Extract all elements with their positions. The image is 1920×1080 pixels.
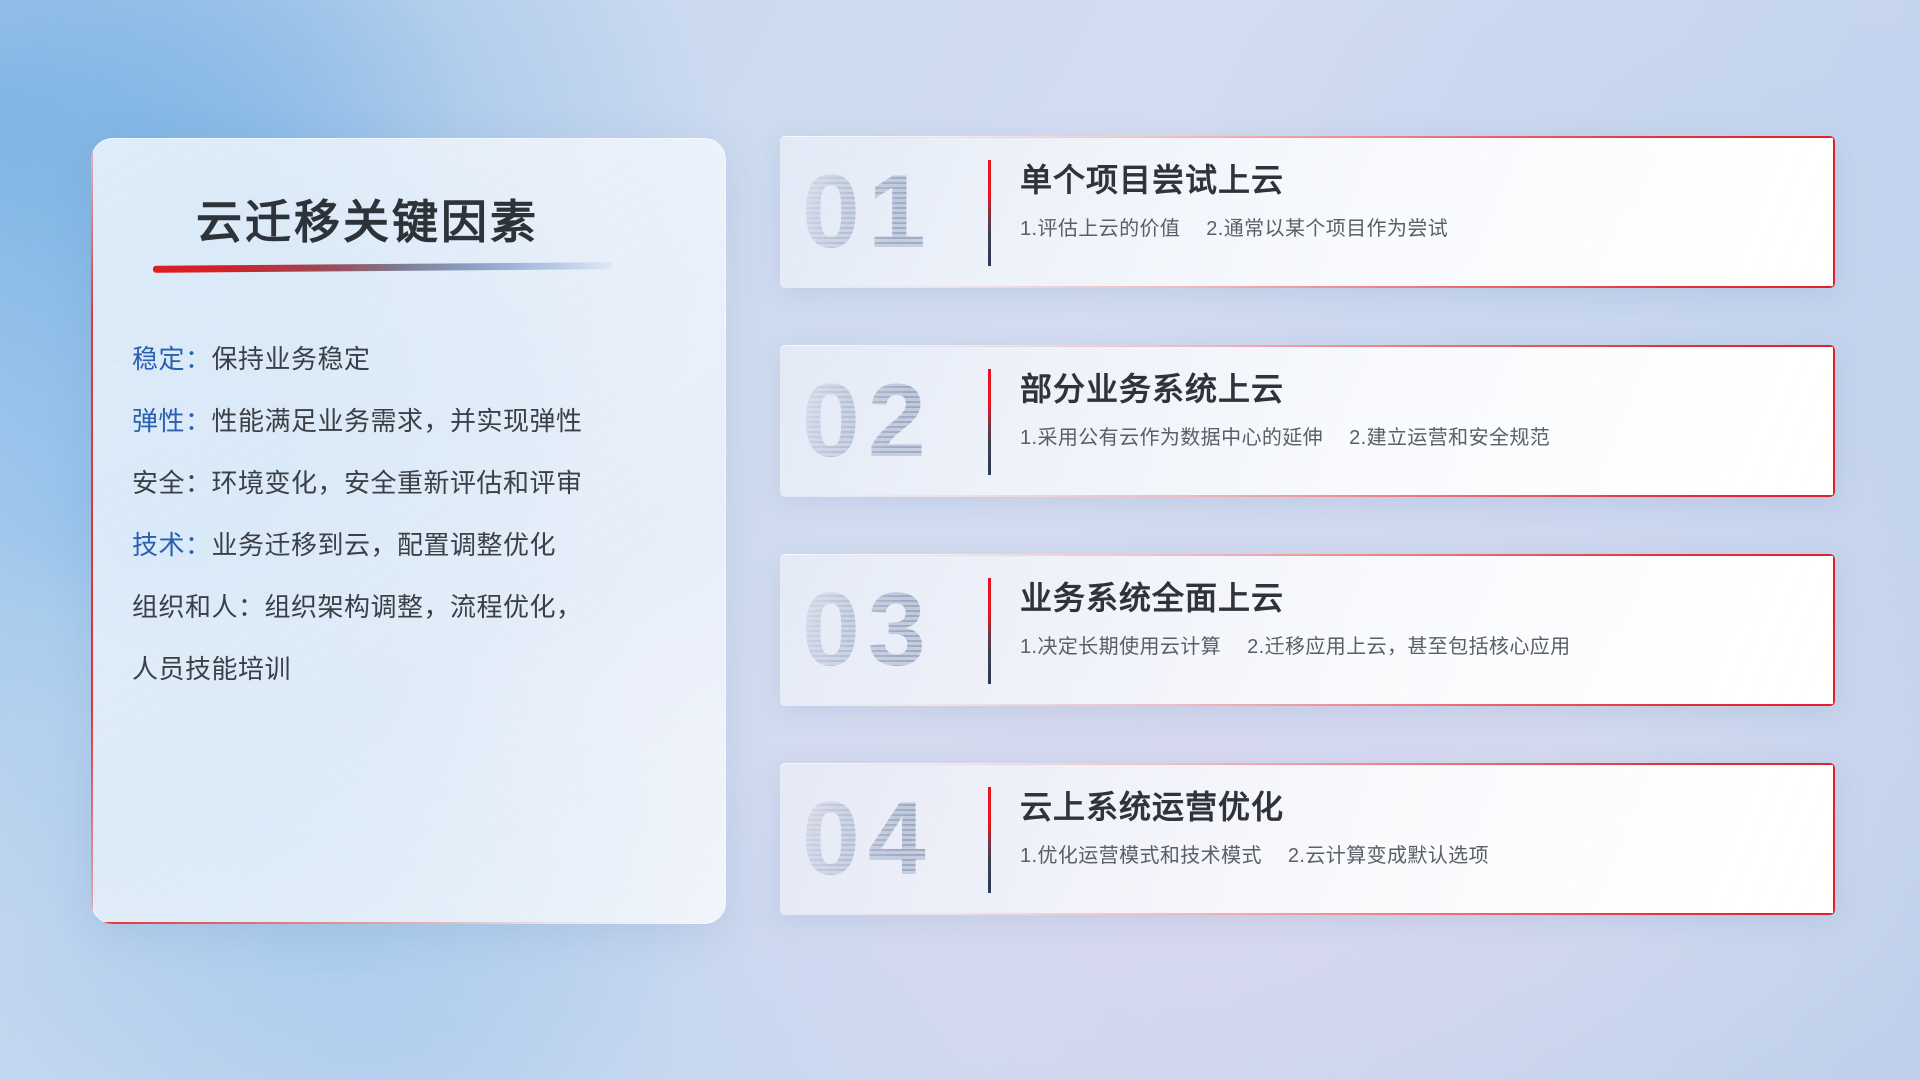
page-title: 云迁移关键因素 [196,186,539,252]
factor-item-security: 安全：环境变化，安全重新评估和评审 [132,468,702,498]
card-description-part-2: 2.建立运营和安全规范 [1349,427,1550,449]
card-frame-top [780,136,1835,138]
factor-key: 稳定： [132,344,212,374]
factor-value: 组织架构调整，流程优化， [265,592,583,622]
key-factors-panel: 云迁移关键因素 稳定：保持业务稳定 弹性：性能满足业务需求，并实现弹性 安全：环… [91,138,726,924]
card-description-part-2: 2.通常以某个项目作为尝试 [1206,218,1448,240]
card-description: 1.采用公有云作为数据中心的延伸2.建立运营和安全规范 [1020,425,1811,451]
factor-value: 环境变化，安全重新评估和评审 [212,468,583,498]
card-description: 1.优化运营模式和技术模式2.云计算变成默认选项 [1020,843,1811,869]
card-frame-top [780,554,1835,556]
factor-key: 安全： [132,468,212,498]
factor-item-elasticity: 弹性：性能满足业务需求，并实现弹性 [132,406,702,436]
card-description-part-2: 2.云计算变成默认选项 [1288,845,1489,867]
factor-value: 保持业务稳定 [212,344,371,374]
factor-value: 性能满足业务需求，并实现弹性 [212,406,583,436]
stage-card[interactable]: 01 单个项目尝试上云 1.评估上云的价值2.通常以某个项目作为尝试 [780,136,1835,288]
slide-root: 云迁移关键因素 稳定：保持业务稳定 弹性：性能满足业务需求，并实现弹性 安全：环… [0,0,1920,1080]
card-description-part-1: 1.优化运营模式和技术模式 [1020,845,1262,867]
factor-key: 技术： [132,530,212,560]
card-description-part-1: 1.决定长期使用云计算 [1020,636,1221,658]
card-body: 单个项目尝试上云 1.评估上云的价值2.通常以某个项目作为尝试 [1020,158,1811,242]
card-accent-divider [988,369,991,475]
factor-key: 弹性： [132,406,212,436]
card-title: 云上系统运营优化 [1020,785,1811,829]
stage-card[interactable]: 03 业务系统全面上云 1.决定长期使用云计算2.迁移应用上云，甚至包括核心应用 [780,554,1835,706]
stage-card-list: 01 单个项目尝试上云 1.评估上云的价值2.通常以某个项目作为尝试 02 部分… [780,136,1835,972]
card-description-part-1: 1.采用公有云作为数据中心的延伸 [1020,427,1323,449]
card-accent-divider [988,578,991,684]
stage-number: 04 [802,769,934,909]
card-frame-right [1833,554,1835,706]
card-title: 业务系统全面上云 [1020,576,1811,620]
factor-item-organization-continuation: 人员技能培训 [132,654,702,684]
card-accent-divider [988,160,991,266]
card-frame-bottom [780,286,1835,288]
factor-item-stability: 稳定：保持业务稳定 [132,344,702,374]
card-frame-right [1833,345,1835,497]
card-description: 1.评估上云的价值2.通常以某个项目作为尝试 [1020,216,1811,242]
card-title: 部分业务系统上云 [1020,367,1811,411]
factor-item-technology: 技术：业务迁移到云，配置调整优化 [132,530,702,560]
factor-key: 组织和人： [132,592,265,622]
stage-card[interactable]: 02 部分业务系统上云 1.采用公有云作为数据中心的延伸2.建立运营和安全规范 [780,345,1835,497]
card-frame-bottom [780,495,1835,497]
card-description-part-2: 2.迁移应用上云，甚至包括核心应用 [1247,636,1570,658]
title-underline-rule [153,262,613,273]
card-frame-bottom [780,704,1835,706]
card-body: 云上系统运营优化 1.优化运营模式和技术模式2.云计算变成默认选项 [1020,785,1811,869]
stage-number: 02 [802,351,934,491]
card-frame-top [780,763,1835,765]
card-frame-right [1833,136,1835,288]
stage-card[interactable]: 04 云上系统运营优化 1.优化运营模式和技术模式2.云计算变成默认选项 [780,763,1835,915]
card-body: 部分业务系统上云 1.采用公有云作为数据中心的延伸2.建立运营和安全规范 [1020,367,1811,451]
stage-number: 03 [802,560,934,700]
factor-list: 稳定：保持业务稳定 弹性：性能满足业务需求，并实现弹性 安全：环境变化，安全重新… [132,344,702,716]
card-accent-divider [988,787,991,893]
card-frame-top [780,345,1835,347]
card-frame-bottom [780,913,1835,915]
card-description: 1.决定长期使用云计算2.迁移应用上云，甚至包括核心应用 [1020,634,1811,660]
card-frame-right [1833,763,1835,915]
factor-item-organization: 组织和人：组织架构调整，流程优化， [132,592,702,622]
card-title: 单个项目尝试上云 [1020,158,1811,202]
stage-number: 01 [802,142,934,282]
card-description-part-1: 1.评估上云的价值 [1020,218,1180,240]
card-body: 业务系统全面上云 1.决定长期使用云计算2.迁移应用上云，甚至包括核心应用 [1020,576,1811,660]
factor-value: 业务迁移到云，配置调整优化 [212,530,557,560]
